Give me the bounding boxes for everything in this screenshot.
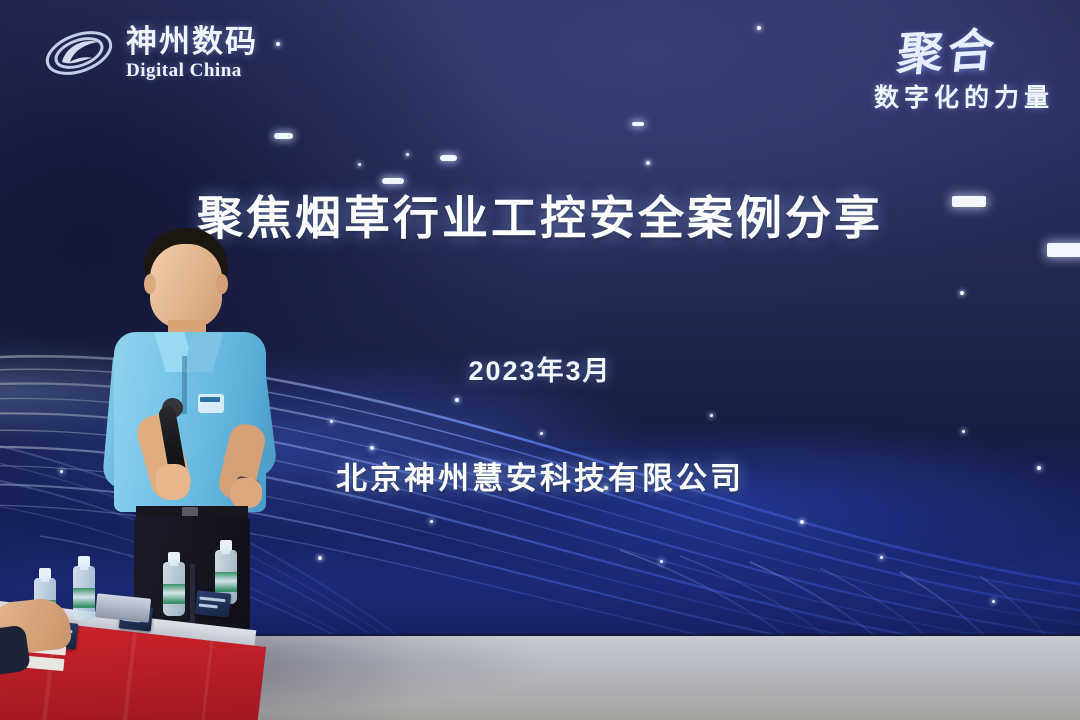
bottle-neck	[170, 560, 178, 566]
bottle-neck	[222, 548, 230, 554]
tablecloth-fold	[119, 632, 137, 720]
particle-dot	[430, 520, 433, 523]
particle-dot	[960, 291, 964, 295]
light-streak	[274, 133, 293, 139]
particle-dot	[370, 446, 374, 450]
bottle-label	[73, 588, 95, 608]
particle-dot	[880, 556, 883, 559]
particle-dot	[330, 420, 333, 423]
digital-china-swirl-icon	[42, 22, 116, 84]
juhe-brand-logo: 聚合 数字化的力量	[804, 16, 1054, 114]
water-bottle	[73, 566, 95, 620]
name-card	[195, 590, 231, 617]
particle-dot	[757, 26, 761, 30]
particle-dot	[646, 161, 650, 165]
name-card-line	[199, 597, 225, 603]
particle-dot	[455, 398, 459, 402]
digital-china-wordmark: 神州数码 Digital China	[126, 26, 258, 80]
particle-dot	[318, 556, 322, 560]
conference-stage-photo: 神州数码 Digital China 聚合 数字化的力量 聚焦烟草行业工控安全案…	[0, 0, 1080, 720]
tablecloth-fold	[197, 641, 214, 720]
particle-dot	[800, 520, 804, 524]
speaker-ear-left	[144, 274, 156, 294]
bottle-neck	[80, 564, 88, 570]
bottle-label	[163, 584, 185, 604]
speaker-ear-right	[216, 274, 228, 294]
particle-dot	[962, 430, 965, 433]
particle-dot	[358, 163, 361, 166]
speaker-hand-left	[156, 464, 190, 500]
light-streak	[632, 122, 644, 126]
name-card-line	[199, 604, 218, 609]
particle-dot	[276, 42, 280, 46]
particle-dot	[406, 153, 409, 156]
shirt-chest-logo-bar	[200, 397, 220, 402]
digital-china-logo: 神州数码 Digital China	[42, 22, 258, 84]
light-streak	[440, 155, 457, 161]
water-bottle	[163, 562, 185, 616]
bottle-label	[215, 572, 237, 592]
speaker-face-shading	[150, 244, 222, 328]
logo-chinese-text: 神州数码	[126, 26, 258, 57]
brush-calligraphy-text: 聚合	[894, 13, 1002, 84]
logo-english-text: Digital China	[126, 61, 258, 80]
bottle-neck	[41, 576, 49, 582]
particle-dot	[540, 432, 543, 435]
particle-dot	[992, 600, 995, 603]
particle-dot	[710, 414, 713, 417]
speaker-hand-right	[230, 478, 262, 508]
brand-slogan: 数字化的力量	[804, 78, 1054, 114]
particle-dot	[660, 560, 663, 563]
